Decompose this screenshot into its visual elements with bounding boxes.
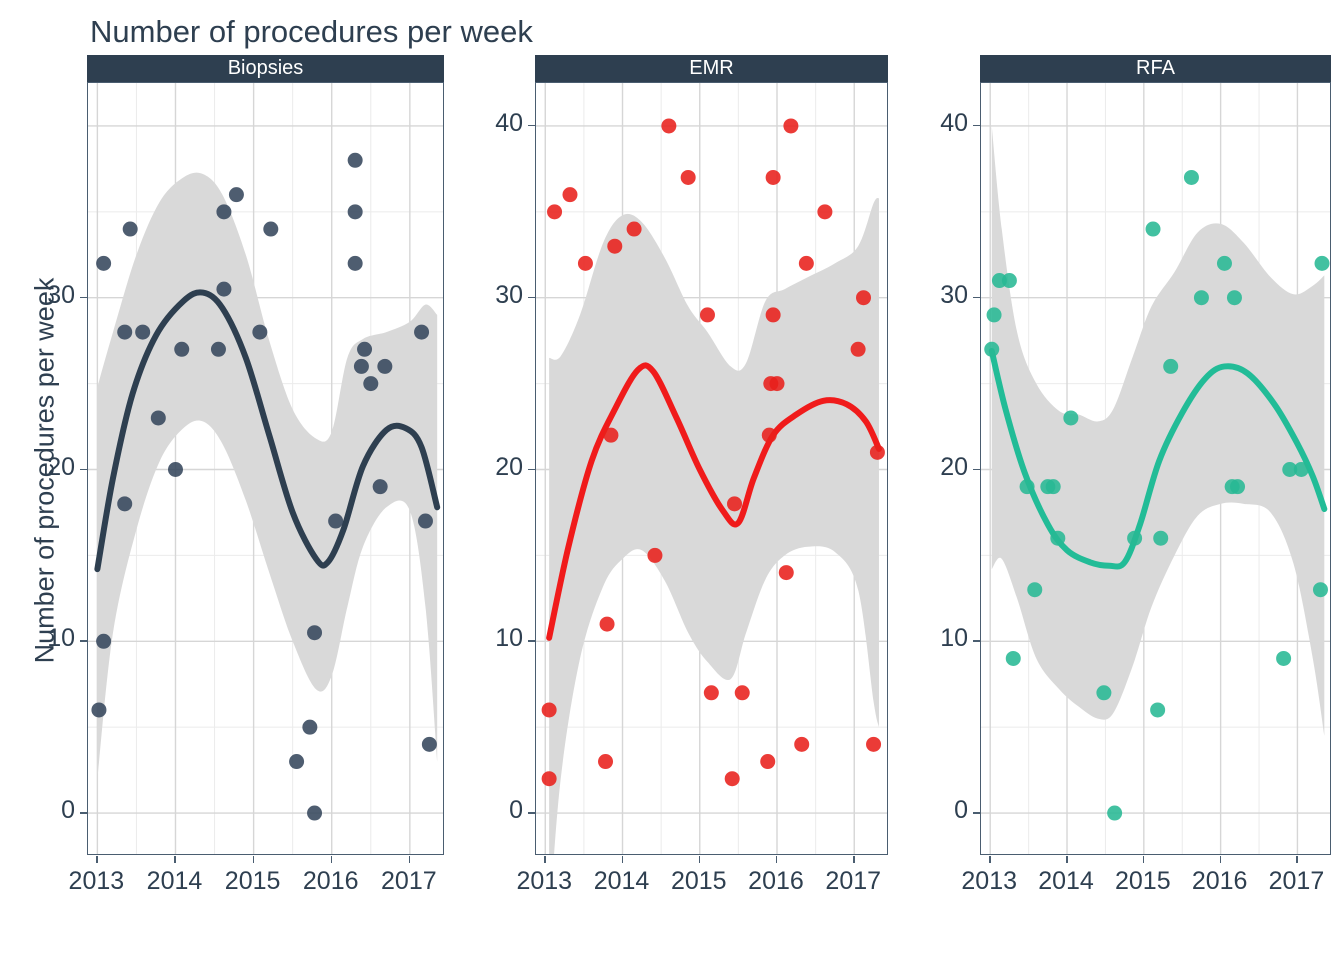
data-point: [117, 496, 132, 511]
data-point: [1163, 359, 1178, 374]
data-point: [307, 806, 322, 821]
data-point: [418, 514, 433, 529]
data-point: [783, 118, 798, 133]
x-axis-tick-mark: [253, 856, 255, 863]
data-point: [600, 617, 615, 632]
data-point: [354, 359, 369, 374]
data-point: [725, 771, 740, 786]
data-point: [1276, 651, 1291, 666]
y-axis-tick-label: 30: [914, 281, 968, 310]
data-point: [870, 445, 885, 460]
y-axis-tick-mark: [528, 640, 535, 642]
data-point: [735, 685, 750, 700]
data-point: [302, 720, 317, 735]
data-point: [542, 702, 557, 717]
data-point: [856, 290, 871, 305]
x-axis-tick-mark: [174, 856, 176, 863]
y-axis-tick-mark: [973, 125, 980, 127]
x-axis-tick-mark: [96, 856, 98, 863]
data-point: [598, 754, 613, 769]
x-axis-tick-mark: [1066, 856, 1068, 863]
y-axis-tick-label: 0: [914, 796, 968, 825]
y-axis-tick-mark: [528, 812, 535, 814]
data-point: [229, 187, 244, 202]
data-point: [211, 342, 226, 357]
plot-svg: [981, 83, 1331, 855]
data-point: [1230, 479, 1245, 494]
x-axis-tick-mark: [699, 856, 701, 863]
data-point: [1127, 531, 1142, 546]
plot-area-rfa: [980, 82, 1331, 855]
y-axis-tick-label: 0: [21, 796, 75, 825]
y-axis-tick-label: 20: [469, 453, 523, 482]
data-point: [760, 754, 775, 769]
y-axis-tick-mark: [80, 297, 87, 299]
y-axis-tick-label: 10: [914, 624, 968, 653]
data-point: [422, 737, 437, 752]
x-axis-tick-mark: [1143, 856, 1145, 863]
x-axis-tick-mark: [331, 856, 333, 863]
data-point: [987, 307, 1002, 322]
data-point: [542, 771, 557, 786]
data-point: [1107, 806, 1122, 821]
x-axis-tick-mark: [409, 856, 411, 863]
y-axis-tick-label: 0: [469, 796, 523, 825]
data-point: [1184, 170, 1199, 185]
data-point: [328, 514, 343, 529]
x-axis-tick-label: 2017: [808, 867, 898, 896]
facet-strip-label-biopsies: Biopsies: [87, 55, 444, 82]
x-axis-tick-mark: [622, 856, 624, 863]
x-axis-tick-mark: [853, 856, 855, 863]
data-point: [1194, 290, 1209, 305]
data-point: [263, 222, 278, 237]
data-point: [627, 222, 642, 237]
y-axis-tick-mark: [528, 297, 535, 299]
data-point: [547, 204, 562, 219]
x-axis-tick-mark: [1296, 856, 1298, 863]
y-axis-tick-mark: [973, 640, 980, 642]
y-axis-tick-mark: [973, 469, 980, 471]
data-point: [762, 428, 777, 443]
data-point: [866, 737, 881, 752]
plot-area-biopsies: [87, 82, 444, 855]
data-point: [562, 187, 577, 202]
data-point: [135, 325, 150, 340]
data-point: [799, 256, 814, 271]
data-point: [1146, 222, 1161, 237]
data-point: [216, 282, 231, 297]
y-axis-tick-label: 40: [469, 109, 523, 138]
data-point: [607, 239, 622, 254]
data-point: [91, 702, 106, 717]
data-point: [123, 222, 138, 237]
data-point: [414, 325, 429, 340]
y-axis-tick-mark: [528, 469, 535, 471]
facet-strip-label-emr: EMR: [535, 55, 888, 82]
y-axis-tick-label: 30: [21, 281, 75, 310]
y-axis-tick-label: 20: [914, 453, 968, 482]
x-axis-tick-label: 2016: [286, 867, 376, 896]
data-point: [357, 342, 372, 357]
data-point: [766, 170, 781, 185]
x-axis-tick-mark: [989, 856, 991, 863]
data-point: [727, 496, 742, 511]
y-axis-tick-mark: [80, 640, 87, 642]
data-point: [1096, 685, 1111, 700]
page-title: Number of procedures per week: [90, 14, 533, 50]
x-axis-tick-mark: [776, 856, 778, 863]
x-axis-tick-mark: [1220, 856, 1222, 863]
data-point: [681, 170, 696, 185]
data-point: [1313, 582, 1328, 597]
data-point: [1150, 702, 1165, 717]
confidence-ribbon: [549, 198, 879, 855]
x-axis-tick-label: 2014: [129, 867, 219, 896]
data-point: [252, 325, 267, 340]
data-point: [1050, 531, 1065, 546]
plot-area-emr: [535, 82, 888, 855]
facet-strip-label-rfa: RFA: [980, 55, 1331, 82]
data-point: [1002, 273, 1017, 288]
data-point: [1027, 582, 1042, 597]
data-point: [578, 256, 593, 271]
x-axis-tick-label: 2013: [51, 867, 141, 896]
data-point: [117, 325, 132, 340]
data-point: [1294, 462, 1309, 477]
data-point: [1046, 479, 1061, 494]
data-point: [984, 342, 999, 357]
data-point: [700, 307, 715, 322]
data-point: [174, 342, 189, 357]
plot-svg: [536, 83, 888, 855]
data-point: [348, 204, 363, 219]
data-point: [307, 625, 322, 640]
y-axis-tick-label: 20: [21, 453, 75, 482]
data-point: [348, 153, 363, 168]
confidence-ribbon: [97, 173, 437, 779]
y-axis-tick-label: 40: [914, 109, 968, 138]
data-point: [770, 376, 785, 391]
data-point: [1153, 531, 1168, 546]
data-point: [1020, 479, 1035, 494]
y-axis-tick-label: 10: [21, 624, 75, 653]
data-point: [779, 565, 794, 580]
chart-root: Number of procedures per week Number of …: [0, 0, 1344, 960]
plot-svg: [88, 83, 444, 855]
y-axis-tick-mark: [528, 125, 535, 127]
data-point: [216, 204, 231, 219]
x-axis-tick-label: 2015: [208, 867, 298, 896]
data-point: [661, 118, 676, 133]
data-point: [348, 256, 363, 271]
data-point: [704, 685, 719, 700]
data-point: [1006, 651, 1021, 666]
data-point: [603, 428, 618, 443]
x-axis-tick-label: 2017: [1251, 867, 1341, 896]
y-axis-tick-mark: [973, 812, 980, 814]
y-axis-tick-label: 30: [469, 281, 523, 310]
y-axis-tick-mark: [80, 469, 87, 471]
y-axis-tick-mark: [973, 297, 980, 299]
x-axis-tick-label: 2017: [364, 867, 454, 896]
data-point: [647, 548, 662, 563]
confidence-ribbon: [992, 126, 1325, 736]
data-point: [794, 737, 809, 752]
data-point: [363, 376, 378, 391]
y-axis-tick-label: 10: [469, 624, 523, 653]
data-point: [1217, 256, 1232, 271]
data-point: [1227, 290, 1242, 305]
x-axis-tick-mark: [544, 856, 546, 863]
data-point: [817, 204, 832, 219]
data-point: [377, 359, 392, 374]
data-point: [373, 479, 388, 494]
data-point: [851, 342, 866, 357]
data-point: [1063, 410, 1078, 425]
data-point: [168, 462, 183, 477]
data-point: [289, 754, 304, 769]
data-point: [96, 256, 111, 271]
data-point: [1315, 256, 1330, 271]
y-axis-tick-mark: [80, 812, 87, 814]
data-point: [96, 634, 111, 649]
data-point: [766, 307, 781, 322]
data-point: [151, 410, 166, 425]
